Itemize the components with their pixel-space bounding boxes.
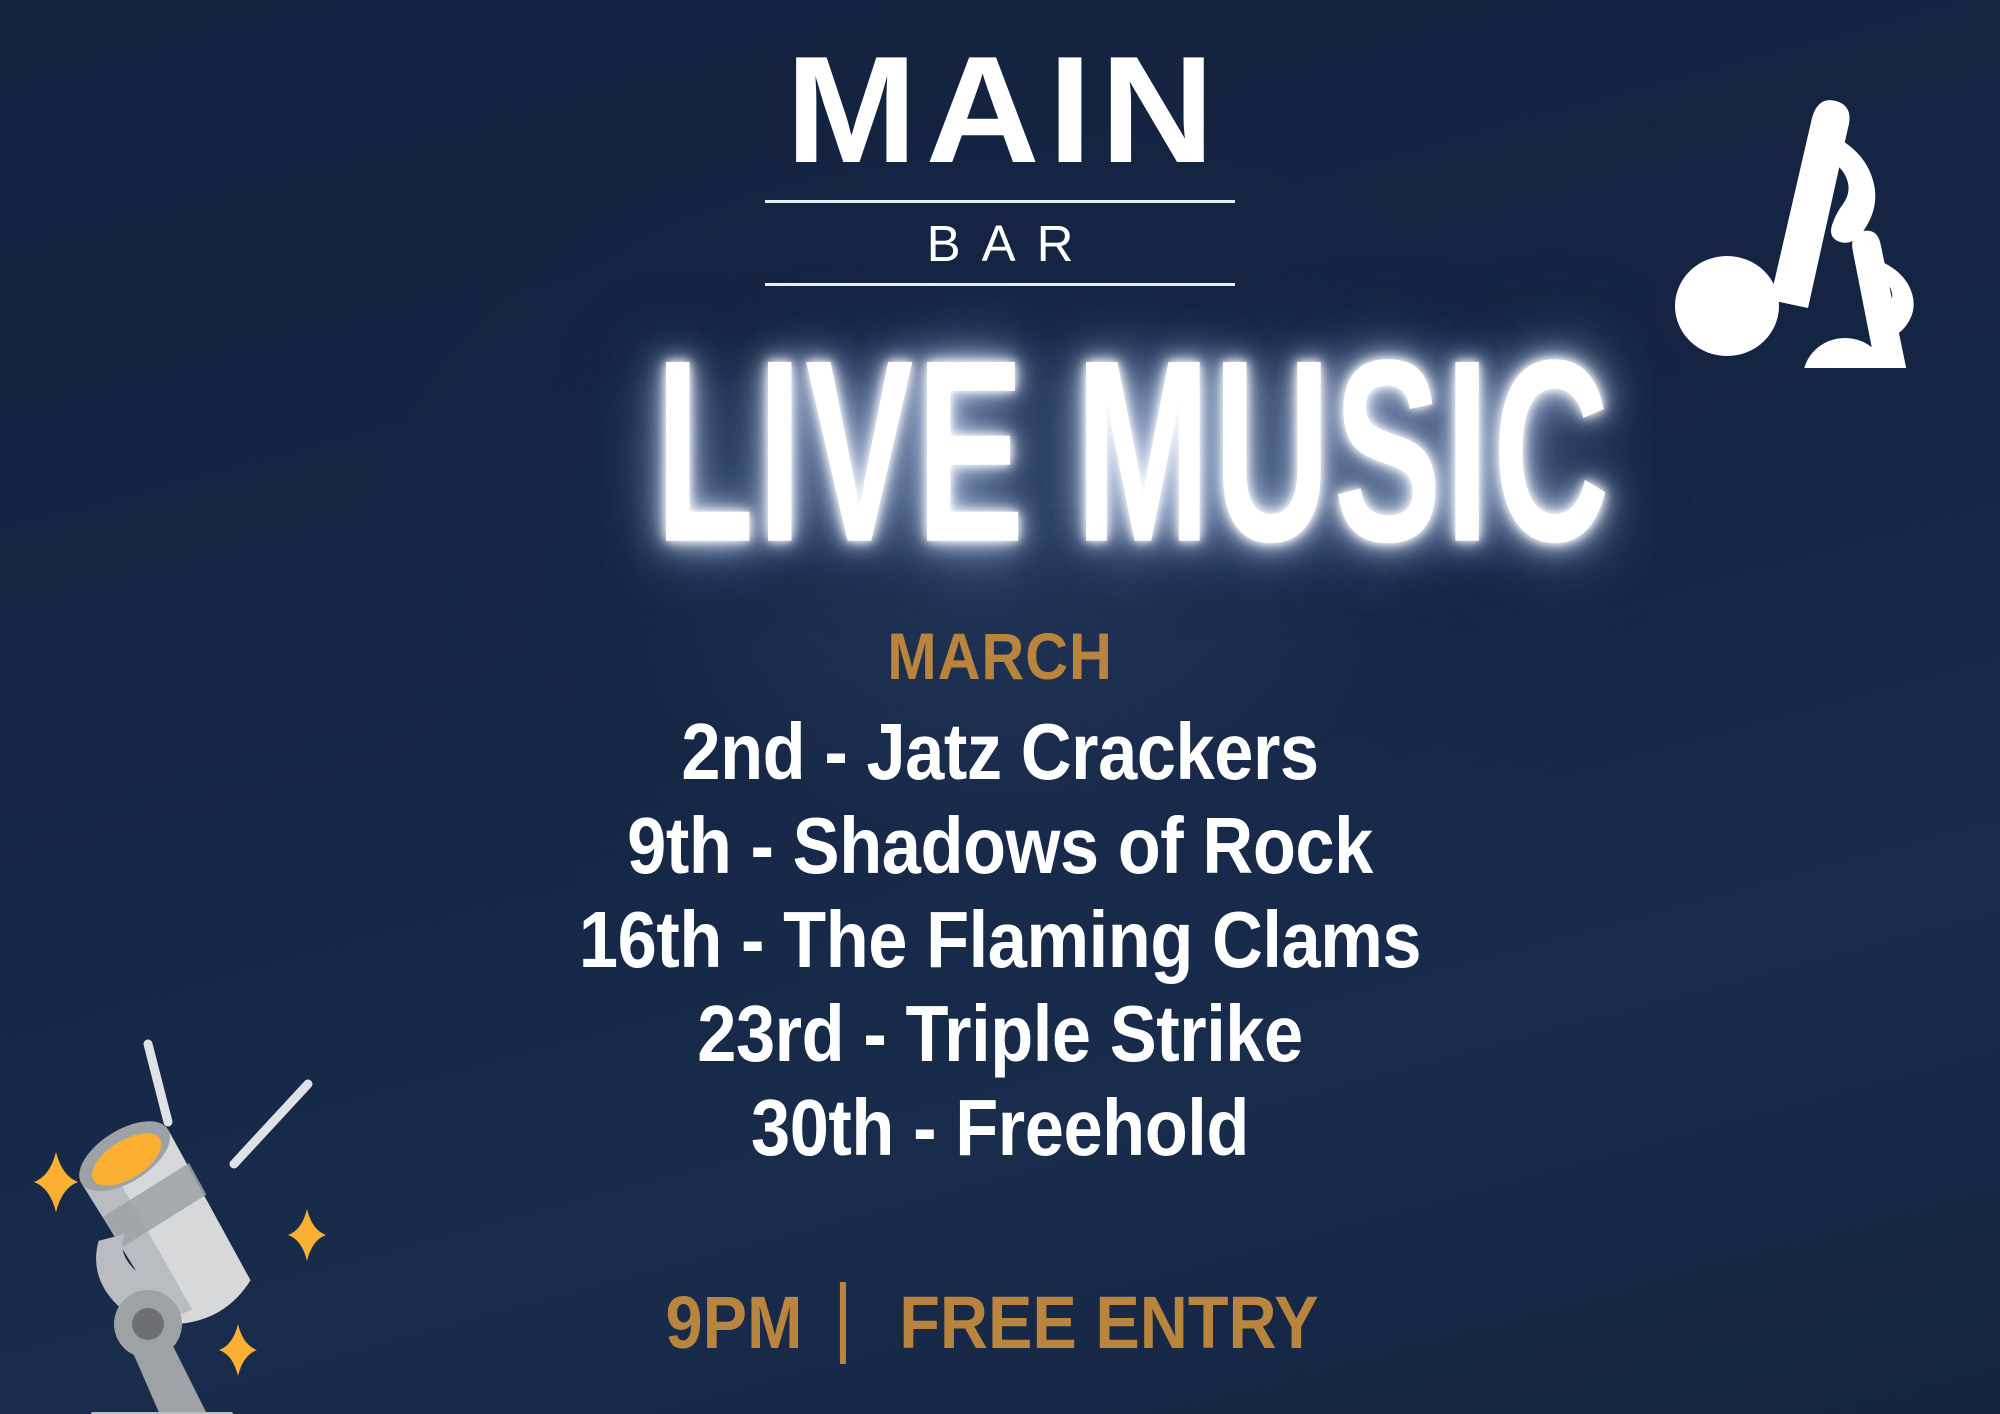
brand-name: MAIN (678, 38, 1323, 184)
show-time: 9PM (666, 1286, 803, 1360)
sparkle-icon (34, 1152, 78, 1212)
logo-divider-bottom (765, 283, 1235, 286)
list-item: 23rd - Triple Strike (428, 990, 1572, 1078)
entry-price: FREE ENTRY (899, 1286, 1318, 1360)
headline-container: LIVE MUSIC (450, 338, 1550, 542)
poster-canvas: MAIN BAR LIVE MUSIC MARCH 2nd - Jatz Cra… (0, 0, 2000, 1414)
neon-headline: LIVE MUSIC (655, 338, 1612, 567)
sparkle-icon (219, 1324, 257, 1376)
brand-subtitle: BAR (690, 214, 1310, 273)
event-lineup-list: 2nd - Jatz Crackers 9th - Shadows of Roc… (350, 708, 1650, 1178)
list-item: 30th - Freehold (428, 1084, 1572, 1172)
stage-spotlight-icon (22, 1024, 382, 1414)
list-item: 9th - Shadows of Rock (428, 802, 1572, 890)
month-heading: MARCH (887, 618, 1113, 694)
footer-info: 9PM FREE ENTRY (658, 1282, 1342, 1364)
logo-divider-top (765, 200, 1235, 203)
sparkle-icon (288, 1209, 326, 1261)
footer-divider-icon (840, 1282, 846, 1364)
list-item: 2nd - Jatz Crackers (428, 708, 1572, 796)
brand-logo: MAIN BAR (690, 38, 1310, 286)
spotlight-stand (130, 1340, 212, 1414)
list-item: 16th - The Flaming Clams (428, 896, 1572, 984)
music-notes-icon (1670, 78, 1940, 368)
